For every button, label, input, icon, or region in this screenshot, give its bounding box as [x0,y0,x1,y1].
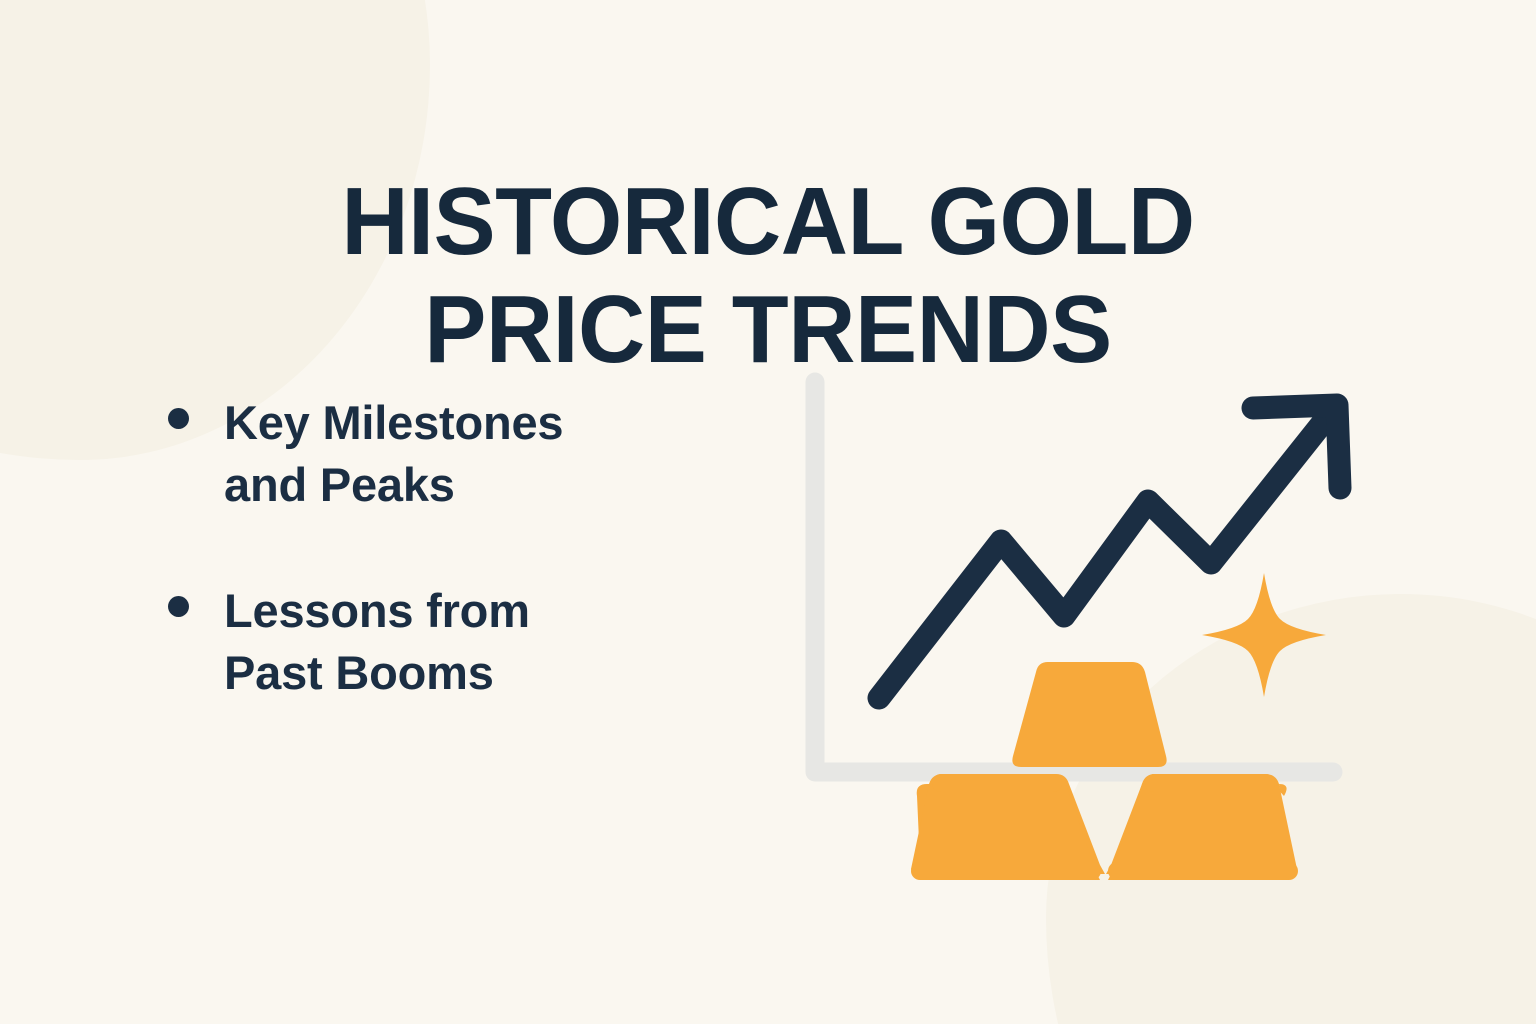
bullet-dot-icon [168,596,189,617]
bullet-text: Lessons from Past Booms [224,580,530,704]
gold-price-growth-illustration [780,360,1380,900]
bullet-list: Key Milestones and Peaks Lessons from Pa… [168,392,728,704]
list-item: Key Milestones and Peaks [168,392,728,516]
slide-root: HISTORICAL GOLD PRICE TRENDS Key Milesto… [0,0,1536,1024]
bullet-dot-icon [168,408,189,429]
page-title: HISTORICAL GOLD PRICE TRENDS [23,168,1513,383]
sparkle-icon [1202,573,1326,697]
list-item: Lessons from Past Booms [168,580,728,704]
bullet-text: Key Milestones and Peaks [224,392,563,516]
